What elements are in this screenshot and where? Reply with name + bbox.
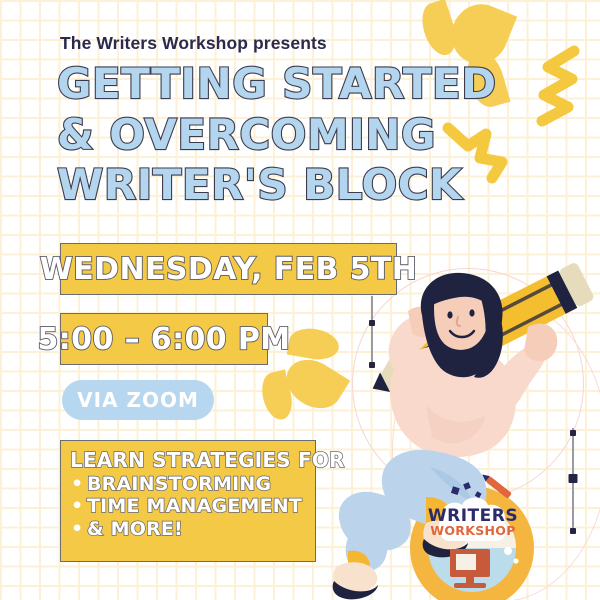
presenter-line: The Writers Workshop presents bbox=[60, 33, 327, 54]
list-item: TIME MANAGEMENT bbox=[70, 495, 307, 517]
list-item: BRAINSTORMING bbox=[70, 473, 307, 495]
writer-illustration: WRITERS WORKSHOP bbox=[330, 255, 600, 600]
eye-left bbox=[447, 311, 452, 318]
right-hand bbox=[524, 324, 557, 362]
title-line-1: GETTING STARTED bbox=[57, 62, 527, 107]
logo-cloud-bubble bbox=[504, 547, 512, 555]
title-line-2: & OVERCOMING bbox=[57, 113, 527, 158]
poster-canvas: WRITERS WORKSHOP The Writers Workshop pr… bbox=[0, 0, 600, 600]
learn-list: BRAINSTORMING TIME MANAGEMENT & MORE! bbox=[70, 473, 307, 540]
date-badge: WEDNESDAY, FEB 5TH bbox=[60, 243, 397, 295]
learn-strategies-box: LEARN STRATEGIES FOR BRAINSTORMING TIME … bbox=[60, 440, 316, 562]
via-zoom-text: VIA ZOOM bbox=[77, 388, 199, 412]
logo-text-workshop: WORKSHOP bbox=[430, 523, 515, 538]
via-zoom-pill: VIA ZOOM bbox=[62, 380, 214, 420]
logo-cloud-bubble bbox=[513, 558, 518, 563]
zigzag-icon bbox=[532, 45, 588, 127]
title-line-3: WRITER'S BLOCK bbox=[57, 163, 527, 208]
learn-heading: LEARN STRATEGIES FOR bbox=[70, 448, 307, 472]
time-badge: 5:00 – 6:00 PM bbox=[60, 313, 268, 365]
time-text: 5:00 – 6:00 PM bbox=[38, 322, 291, 357]
teardrop-icon bbox=[258, 369, 297, 422]
list-item: & MORE! bbox=[70, 518, 307, 540]
eye-right bbox=[469, 309, 474, 316]
page-title: GETTING STARTED & OVERCOMING WRITER'S BL… bbox=[57, 62, 527, 214]
teardrop-icon bbox=[416, 0, 461, 59]
date-text: WEDNESDAY, FEB 5TH bbox=[40, 252, 417, 287]
